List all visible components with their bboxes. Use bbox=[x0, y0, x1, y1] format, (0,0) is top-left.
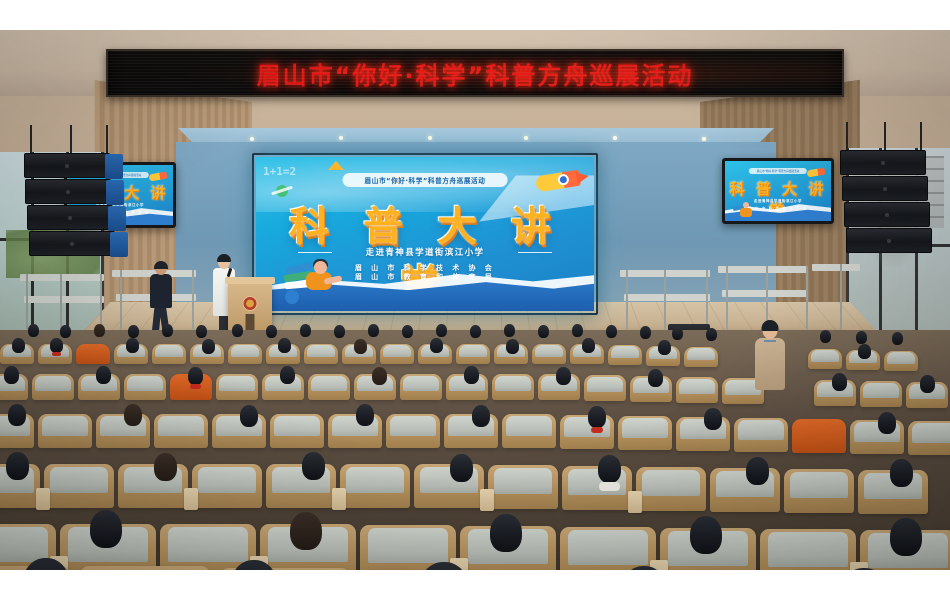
screen-ribbon-text: 眉山市“你好·科学”科普方舟巡展活动 bbox=[343, 173, 508, 187]
side-monitor-right: 眉山市“你好·科学”科普方舟巡展活动 科 普 大 讲 堂 走进青神县学道街滨江小… bbox=[722, 158, 834, 224]
globe-icon bbox=[285, 290, 299, 304]
auditorium-photo: 眉山市“你好·科学”科普方舟巡展活动 bbox=[0, 0, 950, 600]
audience-seating bbox=[0, 310, 950, 570]
screen-equation-decor: 1+1=2 bbox=[263, 165, 296, 178]
school-emblem-icon bbox=[243, 296, 258, 311]
letterbox-top bbox=[0, 0, 950, 30]
scene: 眉山市“你好·科学”科普方舟巡展活动 bbox=[0, 30, 950, 570]
led-banner-glow bbox=[108, 51, 842, 95]
right-monitor-ribbon: 眉山市“你好·科学”科普方舟巡展活动 bbox=[749, 168, 807, 174]
rocket-icon-right-monitor bbox=[807, 167, 826, 177]
rocket-icon-left-monitor bbox=[149, 171, 168, 181]
led-banner: 眉山市“你好·科学”科普方舟巡展活动 bbox=[106, 49, 844, 97]
letterbox-bottom bbox=[0, 570, 950, 600]
screen-subtitle: 走进青神县学道街滨江小学 bbox=[256, 246, 594, 258]
lamp-icon bbox=[328, 161, 344, 170]
main-led-screen: 1+1=2 ∑ƒ≈ 眉山市“你好·科学”科普方舟巡展活动 科 普 大 讲 堂 走… bbox=[256, 157, 594, 311]
student-illustration bbox=[284, 259, 346, 305]
student-illustration-right-monitor bbox=[733, 201, 755, 219]
rocket-window-icon bbox=[557, 173, 570, 186]
